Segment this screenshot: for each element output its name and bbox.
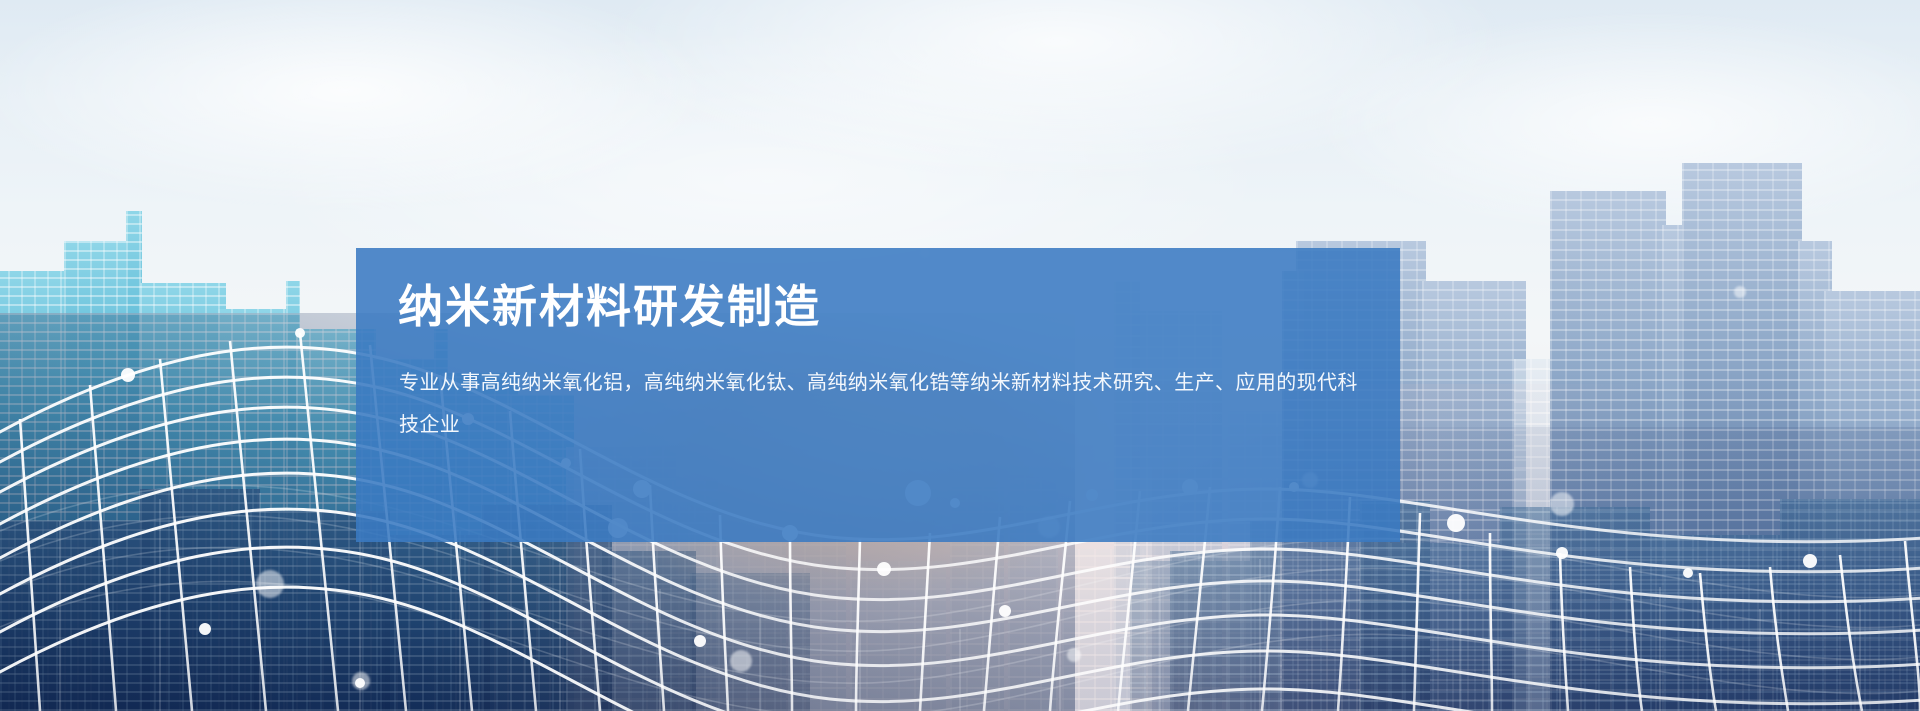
- hero-banner: 纳米新材料研发制造 专业从事高纯纳米氧化铝，高纯纳米氧化钛、高纯纳米氧化锆等纳米…: [0, 0, 1920, 711]
- page-title: 纳米新材料研发制造: [398, 284, 821, 329]
- hero-subtitle: 专业从事高纯纳米氧化铝，高纯纳米氧化钛、高纯纳米氧化锆等纳米新材料技术研究、生产…: [399, 362, 1359, 446]
- hero-content-panel: 纳米新材料研发制造 专业从事高纯纳米氧化铝，高纯纳米氧化钛、高纯纳米氧化锆等纳米…: [356, 248, 1400, 542]
